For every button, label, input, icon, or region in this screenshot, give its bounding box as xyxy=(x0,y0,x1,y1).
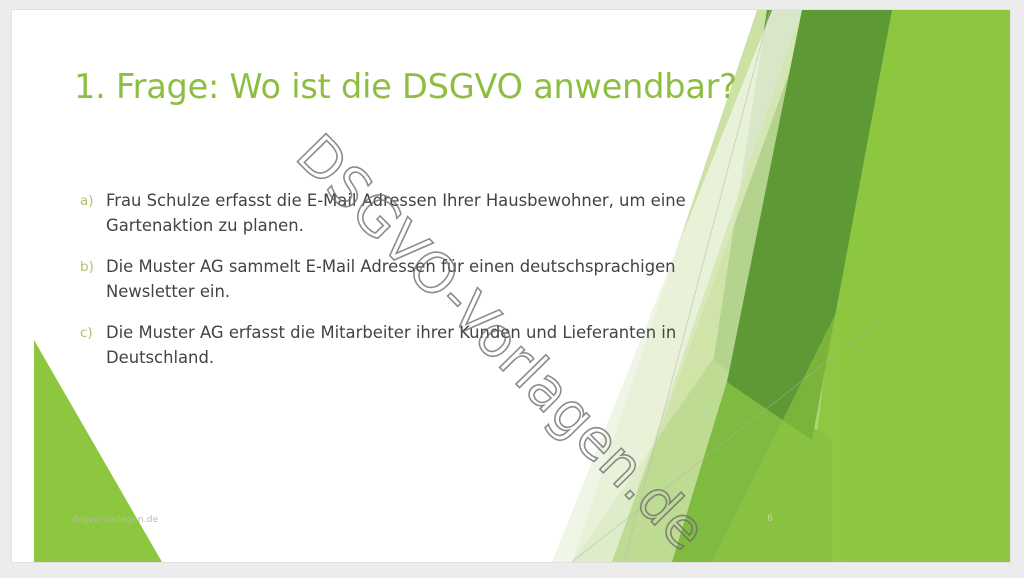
deco-shape-lower-sweep xyxy=(572,360,832,562)
presentation-slide: 1. Frage: Wo ist die DSGVO anwendbar? a)… xyxy=(12,10,1010,562)
list-item-text-b: Die Muster AG sammelt E-Mail Adressen fü… xyxy=(106,254,724,304)
list-item[interactable]: a) Frau Schulze erfasst die E-Mail Adres… xyxy=(74,188,724,238)
list-item-marker-c: c) xyxy=(74,320,106,346)
deco-shape-dark-upper xyxy=(727,10,892,440)
screenshot-stage: 1. Frage: Wo ist die DSGVO anwendbar? a)… xyxy=(0,0,1024,578)
list-item[interactable]: c) Die Muster AG erfasst die Mitarbeiter… xyxy=(74,320,724,370)
slide-title: 1. Frage: Wo ist die DSGVO anwendbar? xyxy=(74,67,737,106)
footer-brand-text: dsgvo-vorlagen.de xyxy=(72,515,158,525)
list-item[interactable]: b) Die Muster AG sammelt E-Mail Adressen… xyxy=(74,254,724,304)
list-item-text-a: Frau Schulze erfasst die E-Mail Adressen… xyxy=(106,188,724,238)
page-number: 6 xyxy=(767,513,773,524)
deco-shape-dark-diagonal-lower xyxy=(702,370,802,480)
deco-shape-bottom-bright xyxy=(712,150,1010,562)
deco-shape-bright-column xyxy=(830,10,1010,562)
list-item-text-c: Die Muster AG erfasst die Mitarbeiter ih… xyxy=(106,320,724,370)
deco-shape-pale-right xyxy=(712,10,1010,562)
answer-options-list: a) Frau Schulze erfasst die E-Mail Adres… xyxy=(74,188,724,386)
deco-shape-bright-wedge xyxy=(802,10,942,562)
list-item-marker-a: a) xyxy=(74,188,106,214)
deco-shape-right-edge xyxy=(892,10,1010,562)
list-item-marker-b: b) xyxy=(74,254,106,280)
